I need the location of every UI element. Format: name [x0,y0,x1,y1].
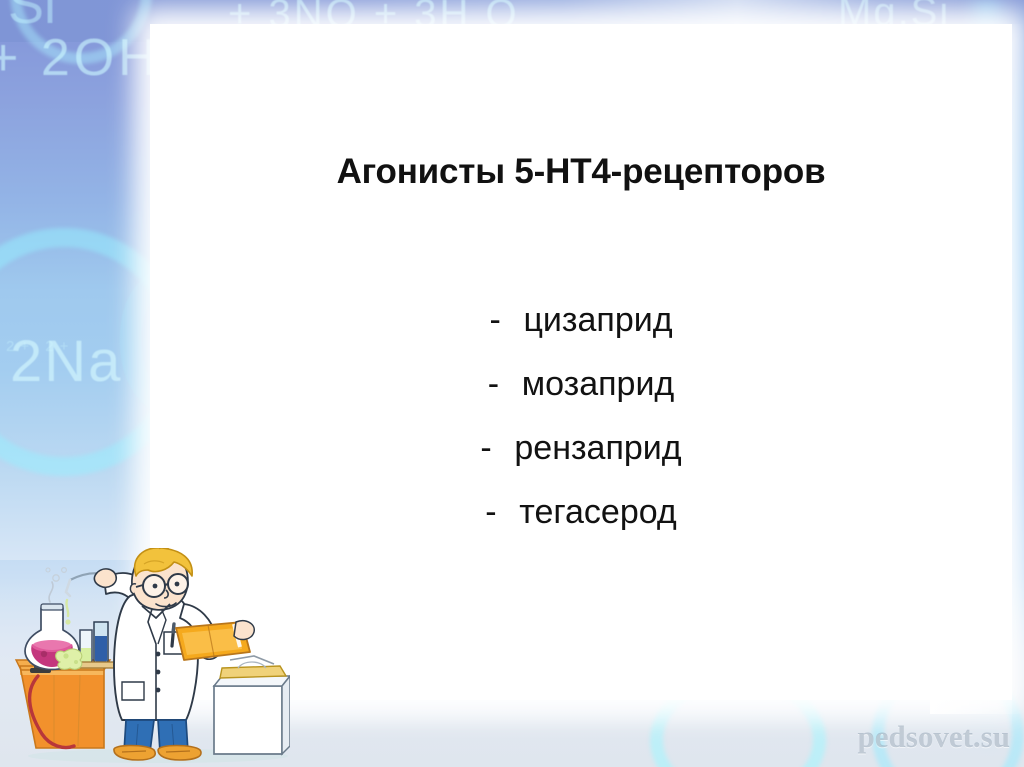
watermark: pedsovet.su [858,719,1010,755]
background-left-panel [0,0,152,560]
bullet-dash: - [485,480,519,544]
list-item-label: цизаприд [523,301,672,339]
list-item: -рензаприд [150,416,1012,480]
bullet-dash: - [489,288,523,352]
list-item-label: тегасерод [519,493,676,531]
presentation-slide: Si + 2OH + 3NO + 3H O Mg,Si C 2+ 2+ 2Na … [0,0,1024,767]
list-item: -цизаприд [150,288,1012,352]
list-item: -тегасерод [150,480,1012,544]
list-item-label: мозаприд [522,365,675,403]
list-item: -мозаприд [150,352,1012,416]
bullet-dash: - [488,352,522,416]
chemist-illustration [8,548,290,763]
list-item-label: рензаприд [514,429,681,467]
bullet-dash: - [480,416,514,480]
agonist-list: -цизаприд -мозаприд -рензаприд -тегасеро… [150,288,1012,544]
slide-title: Агонисты 5-HT4-рецепторов [150,152,1012,192]
